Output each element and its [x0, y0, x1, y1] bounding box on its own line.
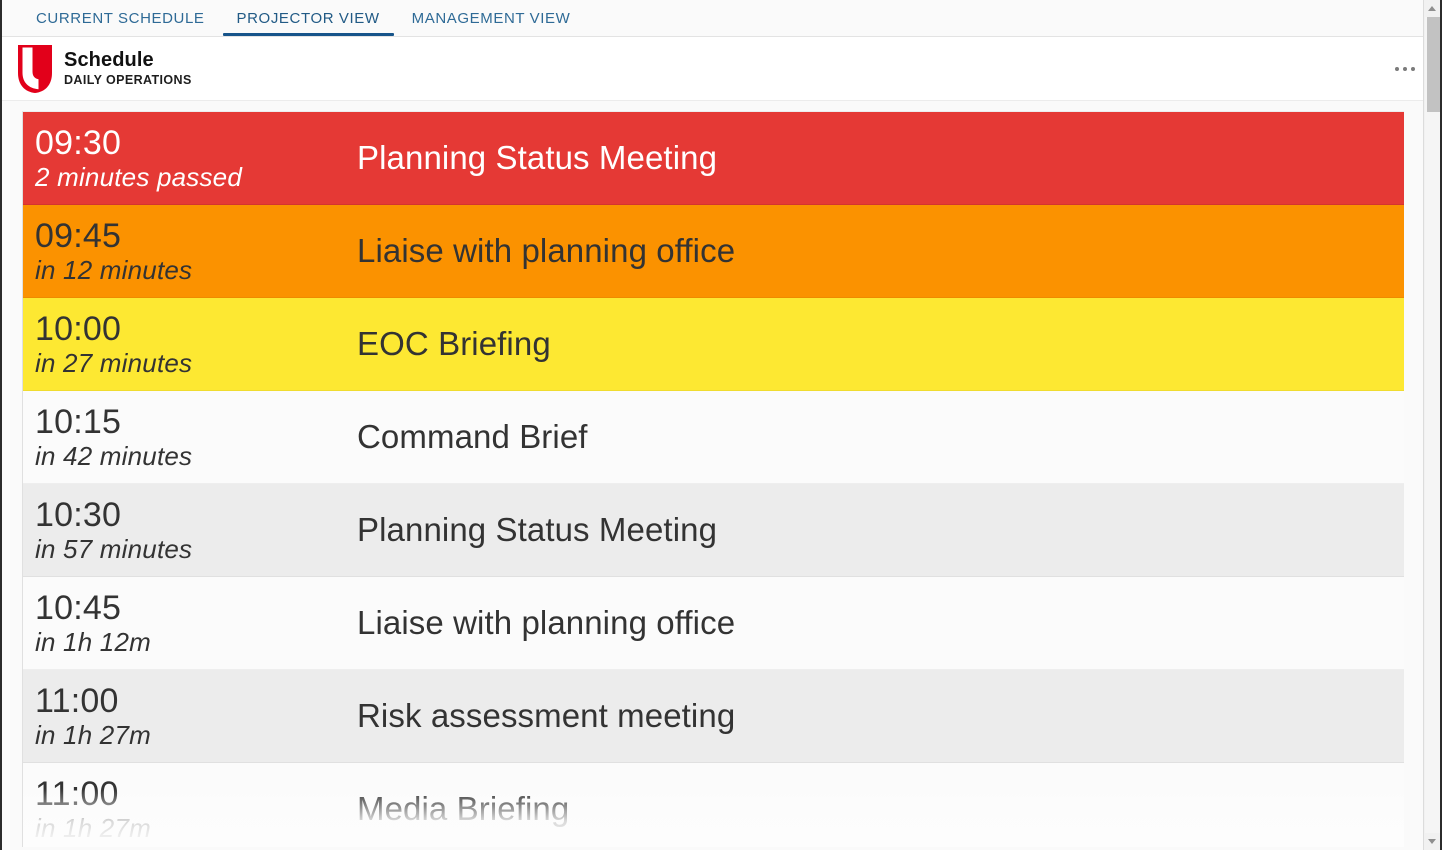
schedule-row-relative-time: in 1h 12m	[35, 627, 357, 657]
schedule-row-relative-time: in 12 minutes	[35, 255, 357, 285]
schedule-row-time-block: 10:15in 42 minutes	[23, 403, 357, 471]
schedule-row-relative-time: in 1h 27m	[35, 813, 357, 843]
schedule-row-relative-time: in 27 minutes	[35, 348, 357, 378]
tab-active-underline	[223, 33, 394, 36]
scroll-up-arrow-icon[interactable]	[1424, 0, 1440, 17]
schedule-row-title: Planning Status Meeting	[357, 511, 1404, 549]
schedule-row[interactable]: 10:30in 57 minutesPlanning Status Meetin…	[23, 484, 1404, 577]
schedule-row-title: Media Briefing	[357, 790, 1404, 828]
schedule-row-title: Command Brief	[357, 418, 1404, 456]
scroll-up-arrow-glyph	[1428, 6, 1436, 11]
schedule-row-time-block: 09:302 minutes passed	[23, 124, 357, 192]
tab-current-schedule-label: CURRENT SCHEDULE	[36, 10, 205, 27]
tab-management-view-label: MANAGEMENT VIEW	[412, 10, 571, 27]
projector-view-app: CURRENT SCHEDULE PROJECTOR VIEW MANAGEME…	[0, 0, 1442, 850]
schedule-row-time-block: 10:45in 1h 12m	[23, 589, 357, 657]
vertical-scrollbar[interactable]	[1423, 0, 1440, 850]
schedule-content: 09:302 minutes passedPlanning Status Mee…	[2, 101, 1440, 847]
tab-current-schedule[interactable]: CURRENT SCHEDULE	[20, 0, 221, 36]
schedule-row-time: 11:00	[35, 682, 357, 720]
tab-projector-view[interactable]: PROJECTOR VIEW	[221, 0, 396, 36]
schedule-row-relative-time: 2 minutes passed	[35, 162, 357, 192]
schedule-row-title: Planning Status Meeting	[357, 139, 1404, 177]
schedule-row-title: Risk assessment meeting	[357, 697, 1404, 735]
schedule-row-title: Liaise with planning office	[357, 232, 1404, 270]
schedule-row-time: 10:30	[35, 496, 357, 534]
kebab-dot	[1411, 67, 1415, 71]
schedule-row-title: EOC Briefing	[357, 325, 1404, 363]
kebab-menu-icon[interactable]	[1388, 52, 1422, 86]
schedule-row-time: 11:00	[35, 775, 357, 813]
schedule-row-time: 10:15	[35, 403, 357, 441]
brand-text-block: Schedule DAILY OPERATIONS	[64, 49, 192, 88]
schedule-list[interactable]: 09:302 minutes passedPlanning Status Mee…	[22, 111, 1404, 847]
schedule-row[interactable]: 11:00in 1h 27mMedia Briefing	[23, 763, 1404, 847]
schedule-row-time-block: 11:00in 1h 27m	[23, 775, 357, 843]
shield-logo-icon	[18, 45, 52, 93]
schedule-row-time-block: 10:00in 27 minutes	[23, 310, 357, 378]
tab-projector-view-label: PROJECTOR VIEW	[237, 10, 380, 27]
schedule-row[interactable]: 09:302 minutes passedPlanning Status Mee…	[23, 112, 1404, 205]
schedule-row-relative-time: in 57 minutes	[35, 534, 357, 564]
app-header: Schedule DAILY OPERATIONS	[2, 37, 1440, 101]
schedule-row-time-block: 11:00in 1h 27m	[23, 682, 357, 750]
schedule-row-time: 09:30	[35, 124, 357, 162]
schedule-row[interactable]: 10:45in 1h 12mLiaise with planning offic…	[23, 577, 1404, 670]
schedule-row-time: 09:45	[35, 217, 357, 255]
schedule-row-time: 10:45	[35, 589, 357, 627]
page-title: Schedule	[64, 49, 192, 72]
schedule-row[interactable]: 10:00in 27 minutesEOC Briefing	[23, 298, 1404, 391]
page-subtitle: DAILY OPERATIONS	[64, 72, 192, 88]
schedule-row[interactable]: 11:00in 1h 27mRisk assessment meeting	[23, 670, 1404, 763]
scroll-down-arrow-glyph	[1428, 839, 1436, 844]
schedule-row-time: 10:00	[35, 310, 357, 348]
schedule-row-title: Liaise with planning office	[357, 604, 1404, 642]
schedule-row-relative-time: in 42 minutes	[35, 441, 357, 471]
schedule-row-relative-time: in 1h 27m	[35, 720, 357, 750]
scrollbar-track[interactable]	[1425, 17, 1440, 833]
kebab-dot	[1403, 67, 1407, 71]
scrollbar-thumb[interactable]	[1427, 17, 1440, 112]
scroll-down-arrow-icon[interactable]	[1424, 833, 1440, 850]
kebab-dot	[1395, 67, 1399, 71]
schedule-row[interactable]: 09:45in 12 minutesLiaise with planning o…	[23, 205, 1404, 298]
schedule-row-time-block: 09:45in 12 minutes	[23, 217, 357, 285]
schedule-row[interactable]: 10:15in 42 minutesCommand Brief	[23, 391, 1404, 484]
tab-management-view[interactable]: MANAGEMENT VIEW	[396, 0, 587, 36]
tab-bar: CURRENT SCHEDULE PROJECTOR VIEW MANAGEME…	[2, 0, 1440, 36]
schedule-row-time-block: 10:30in 57 minutes	[23, 496, 357, 564]
